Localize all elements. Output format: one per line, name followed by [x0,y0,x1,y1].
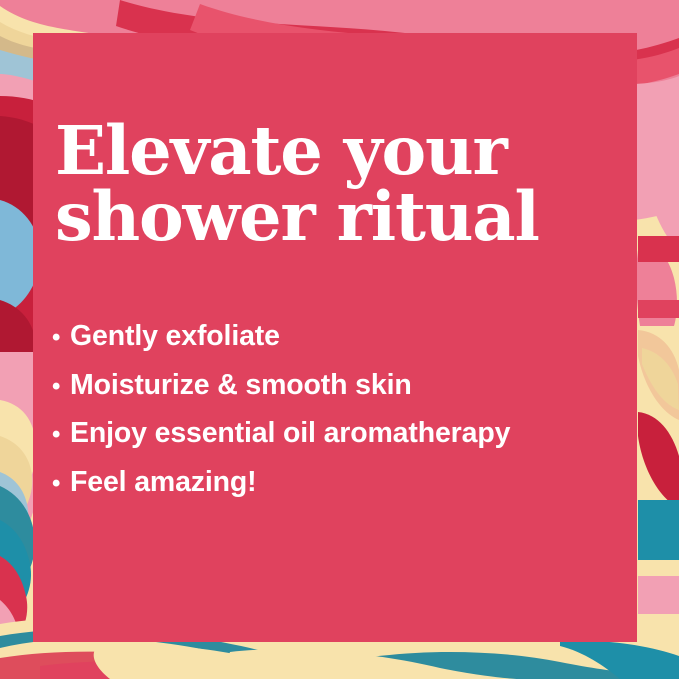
list-item: • Enjoy essential oil aromatherapy [52,419,612,468]
benefits-list: • Gently exfoliate • Moisturize & smooth… [52,322,612,516]
list-item-label: Feel amazing! [70,468,612,497]
page-title: Elevate your shower ritual [55,118,595,249]
marketing-graphic: Elevate your shower ritual • Gently exfo… [0,0,679,679]
bullet-icon: • [52,326,70,350]
list-item: • Feel amazing! [52,468,612,517]
list-item-label: Enjoy essential oil aromatherapy [70,419,612,448]
list-item: • Gently exfoliate [52,322,612,371]
bullet-icon: • [52,472,70,496]
list-item-label: Gently exfoliate [70,322,612,351]
list-item: • Moisturize & smooth skin [52,371,612,420]
list-item-label: Moisturize & smooth skin [70,371,612,400]
bullet-icon: • [52,375,70,399]
bullet-icon: • [52,423,70,447]
